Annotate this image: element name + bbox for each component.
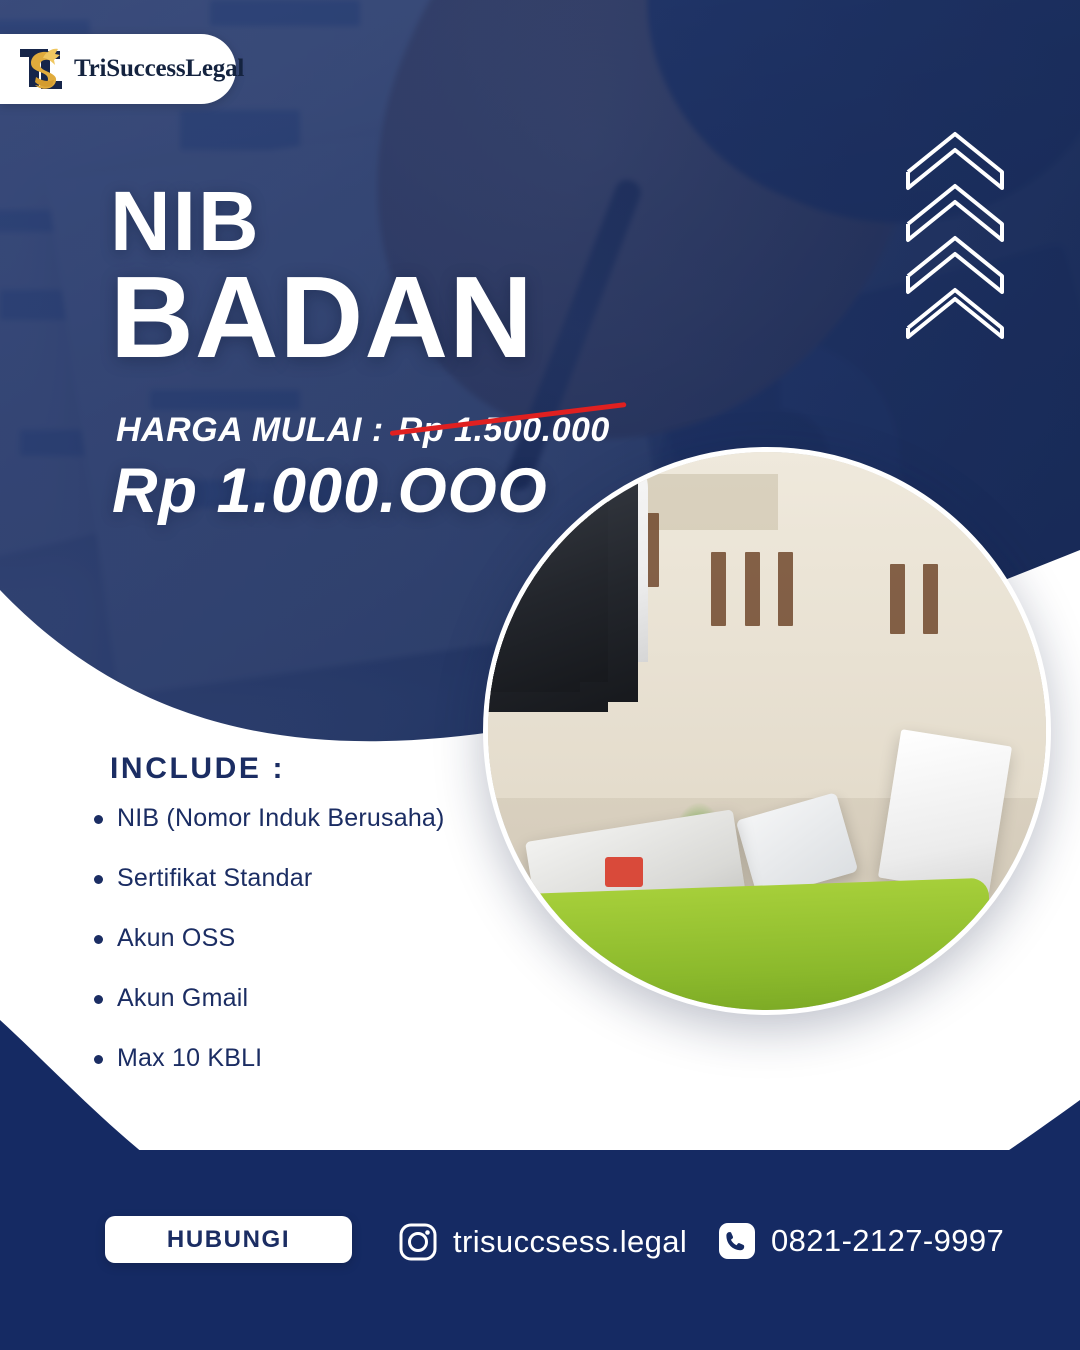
include-list: NIB (Nomor Induk Berusaha) Sertifikat St… <box>94 802 514 1102</box>
list-item-label: Akun Gmail <box>117 982 248 1014</box>
instagram-handle: trisuccsess.legal <box>453 1224 687 1260</box>
list-item: Akun OSS <box>94 922 514 954</box>
headline-line-2: BADAN <box>110 262 534 372</box>
brand-name: TriSuccessLegal <box>74 55 244 83</box>
chevron-up-icon-stack <box>900 128 1010 343</box>
instagram-icon <box>398 1222 438 1262</box>
team-photo <box>483 447 1051 1015</box>
include-heading: INCLUDE : <box>110 752 285 786</box>
price-new: Rp 1.000.OOO <box>112 455 548 527</box>
price-old-row: HARGA MULAI : Rp 1.500.000 <box>116 411 610 450</box>
price-old-wrapper: Rp 1.500.000 <box>398 411 610 450</box>
bullet-icon <box>94 815 103 824</box>
bullet-icon <box>94 875 103 884</box>
phone-contact[interactable]: 0821-2127-9997 <box>718 1222 1004 1260</box>
list-item-label: Max 10 KBLI <box>117 1042 262 1074</box>
phone-number: 0821-2127-9997 <box>771 1223 1004 1259</box>
headline: NIB BADAN <box>110 183 534 372</box>
bullet-icon <box>94 995 103 1004</box>
list-item-label: Akun OSS <box>117 922 235 954</box>
phone-icon <box>718 1222 756 1260</box>
list-item: Akun Gmail <box>94 982 514 1014</box>
list-item: NIB (Nomor Induk Berusaha) <box>94 802 514 834</box>
list-item: Sertifikat Standar <box>94 862 514 894</box>
instagram-contact[interactable]: trisuccsess.legal <box>398 1222 687 1262</box>
list-item-label: Sertifikat Standar <box>117 862 312 894</box>
price-label: HARGA MULAI : <box>116 411 384 450</box>
tsl-monogram-icon <box>14 43 68 95</box>
contact-cta-button[interactable]: HUBUNGI <box>105 1216 352 1263</box>
contact-cta-label: HUBUNGI <box>167 1226 290 1254</box>
promo-poster: TriSuccessLegal NIB BADAN HARGA MULAI : … <box>0 0 1080 1350</box>
brand-logo[interactable]: TriSuccessLegal <box>0 34 236 104</box>
list-item: Max 10 KBLI <box>94 1042 514 1074</box>
bullet-icon <box>94 935 103 944</box>
bullet-icon <box>94 1055 103 1064</box>
list-item-label: NIB (Nomor Induk Berusaha) <box>117 802 445 834</box>
headline-line-1: NIB <box>110 183 534 260</box>
